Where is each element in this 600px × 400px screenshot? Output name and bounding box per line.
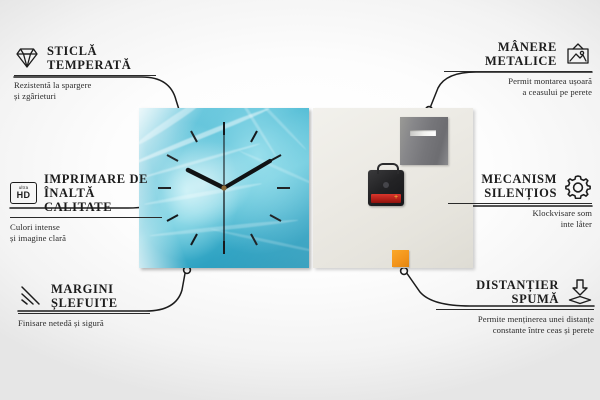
- callout-subtitle: Klockvisare som: [448, 208, 592, 219]
- callout-subtitle-2: constante între ceas și perete: [436, 325, 594, 336]
- callout-subtitle-2: și zgârieturi: [14, 91, 156, 102]
- callout-rule: [18, 313, 150, 314]
- callout-tempered-glass: STICLĂ TEMPERATĂ Rezistentă la spargere …: [14, 44, 156, 102]
- clock-center-cap: [221, 185, 226, 190]
- callout-title-2: METALICE: [485, 54, 557, 68]
- metal-hanger-plate: [400, 117, 448, 165]
- callout-title-2: SPUMĂ: [476, 292, 559, 306]
- callout-rule: [10, 217, 162, 218]
- callout-title-2: TEMPERATĂ: [47, 58, 131, 72]
- callout-title: MÂNERE: [485, 40, 557, 54]
- callout-subtitle: Finisare netedă și sigură: [18, 318, 150, 329]
- gear-icon: [564, 173, 592, 199]
- callout-silent-mechanism: MECANISM SILENȚIOS Klockvisare som inte …: [448, 172, 592, 230]
- callout-title: DISTANȚIER: [476, 278, 559, 292]
- quartz-mechanism: +: [368, 170, 404, 206]
- callout-title-2: ȘLEFUITE: [51, 296, 118, 310]
- badge-hd-label: HD: [17, 191, 31, 200]
- callout-title-2: ÎNALTĂ CALITATE: [44, 186, 162, 214]
- callout-title-2: SILENȚIOS: [481, 186, 557, 200]
- clock-tick: [191, 234, 197, 245]
- polished-edge-icon: [18, 284, 44, 308]
- clock-dial: [139, 108, 309, 268]
- clock-tick: [191, 131, 197, 142]
- callout-rule: [444, 71, 592, 72]
- callout-subtitle: Culori intense: [10, 222, 162, 233]
- clock-hour-hand: [188, 170, 224, 188]
- clock-tick: [270, 215, 281, 221]
- clock-tick: [167, 155, 178, 161]
- callout-title: MARGINI: [51, 282, 118, 296]
- callout-title: STICLĂ: [47, 44, 131, 58]
- diamond-icon: [14, 46, 40, 70]
- ultra-hd-badge-icon: ultra HD: [10, 182, 37, 204]
- callout-polished-edges: MARGINI ȘLEFUITE Finisare netedă și sigu…: [18, 282, 150, 329]
- callout-subtitle-2: și imagine clară: [10, 233, 162, 244]
- picture-hanger-icon: [564, 42, 592, 66]
- clock-tick: [167, 215, 178, 221]
- battery: +: [371, 194, 401, 203]
- callout-rule: [14, 75, 156, 76]
- callout-title: IMPRIMARE DE: [44, 172, 162, 186]
- foam-spacer: [392, 250, 409, 267]
- callout-hd-print: ultra HD IMPRIMARE DE ÎNALTĂ CALITATE Cu…: [10, 172, 162, 244]
- clock-minute-hand: [224, 161, 270, 188]
- callout-title: MECANISM: [481, 172, 557, 186]
- clock-front-panel: [139, 108, 309, 268]
- hanger-slot: [410, 130, 436, 136]
- mechanism-shaft: [383, 182, 389, 188]
- battery-plus-marker: +: [393, 195, 399, 201]
- callout-subtitle: Rezistentă la spargere: [14, 80, 156, 91]
- callout-rule: [448, 203, 592, 204]
- callout-rule: [436, 309, 594, 310]
- mechanism-hanger-loop: [377, 163, 399, 174]
- callout-subtitle: Permit montarea ușoară: [444, 76, 592, 87]
- callout-metal-handles: MÂNERE METALICE Permit montarea ușoară a…: [444, 40, 592, 98]
- down-arrow-layer-icon: [566, 279, 594, 305]
- callout-subtitle-2: a ceasului pe perete: [444, 87, 592, 98]
- callout-foam-spacer: DISTANȚIER SPUMĂ Permite menținerea unei…: [436, 278, 594, 336]
- infographic-stage: + STICLĂ TEMPERATĂ Rezistentă la sparger…: [0, 0, 600, 400]
- clock-tick: [251, 131, 257, 142]
- clock-tick: [251, 234, 257, 245]
- callout-subtitle-2: inte låter: [448, 219, 592, 230]
- leader-dot-spacer: [401, 268, 408, 275]
- callout-subtitle: Permite menținerea unei distanțe: [436, 314, 594, 325]
